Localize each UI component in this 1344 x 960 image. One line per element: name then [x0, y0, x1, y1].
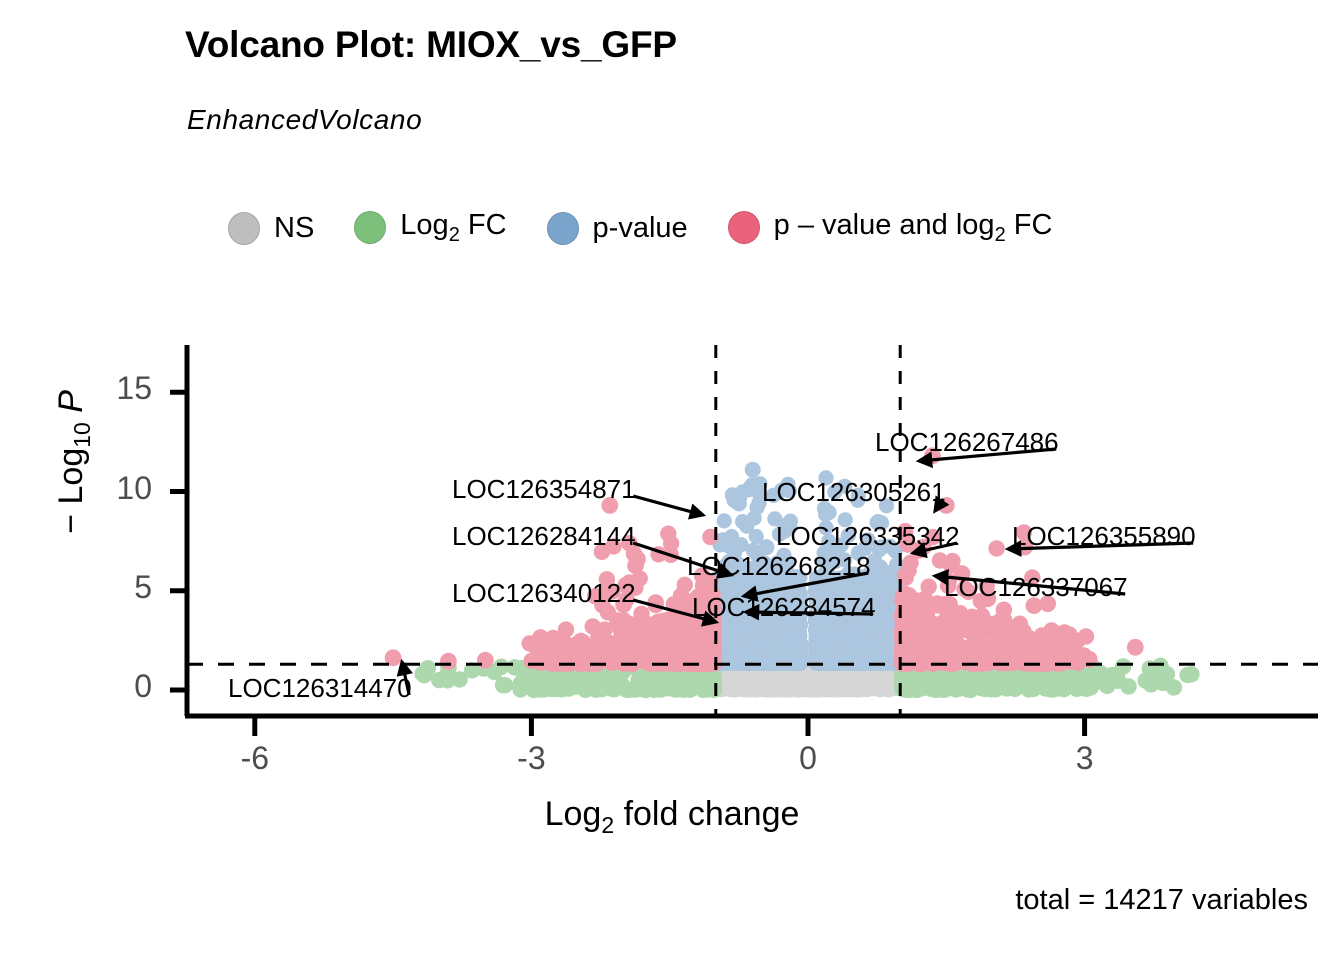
gene-label-LOC126267486: LOC126267486	[875, 427, 1059, 458]
gene-label-LOC126337067: LOC126337067	[944, 572, 1128, 603]
y-tick-5: 5	[82, 569, 152, 606]
gene-label-LOC126314470: LOC126314470	[228, 673, 412, 704]
gene-label-LOC126340122: LOC126340122	[452, 578, 636, 609]
x-axis-label: Log2 fold change	[0, 795, 1344, 839]
y-tick-10: 10	[82, 470, 152, 507]
x-tick-0: 0	[768, 740, 848, 777]
gene-label-LOC126284144: LOC126284144	[452, 521, 636, 552]
volcano-plot-figure: Volcano Plot: MIOX_vs_GFP EnhancedVolcan…	[0, 0, 1344, 960]
gene-label-LOC126268218: LOC126268218	[687, 551, 871, 582]
y-tick-0: 0	[82, 668, 152, 705]
y-tick-15: 15	[82, 370, 152, 407]
gene-label-LOC126335342: LOC126335342	[776, 521, 960, 552]
gene-label-LOC126355890: LOC126355890	[1012, 521, 1196, 552]
gene-label-LOC126305261: LOC126305261	[762, 477, 946, 508]
gene-label-LOC126354871: LOC126354871	[452, 474, 636, 505]
gene-label-LOC126284574: LOC126284574	[692, 592, 876, 623]
x-tick--6: -6	[215, 740, 295, 777]
total-variables-caption: total = 14217 variables	[1015, 884, 1308, 917]
x-tick-3: 3	[1045, 740, 1125, 777]
x-tick--3: -3	[491, 740, 571, 777]
